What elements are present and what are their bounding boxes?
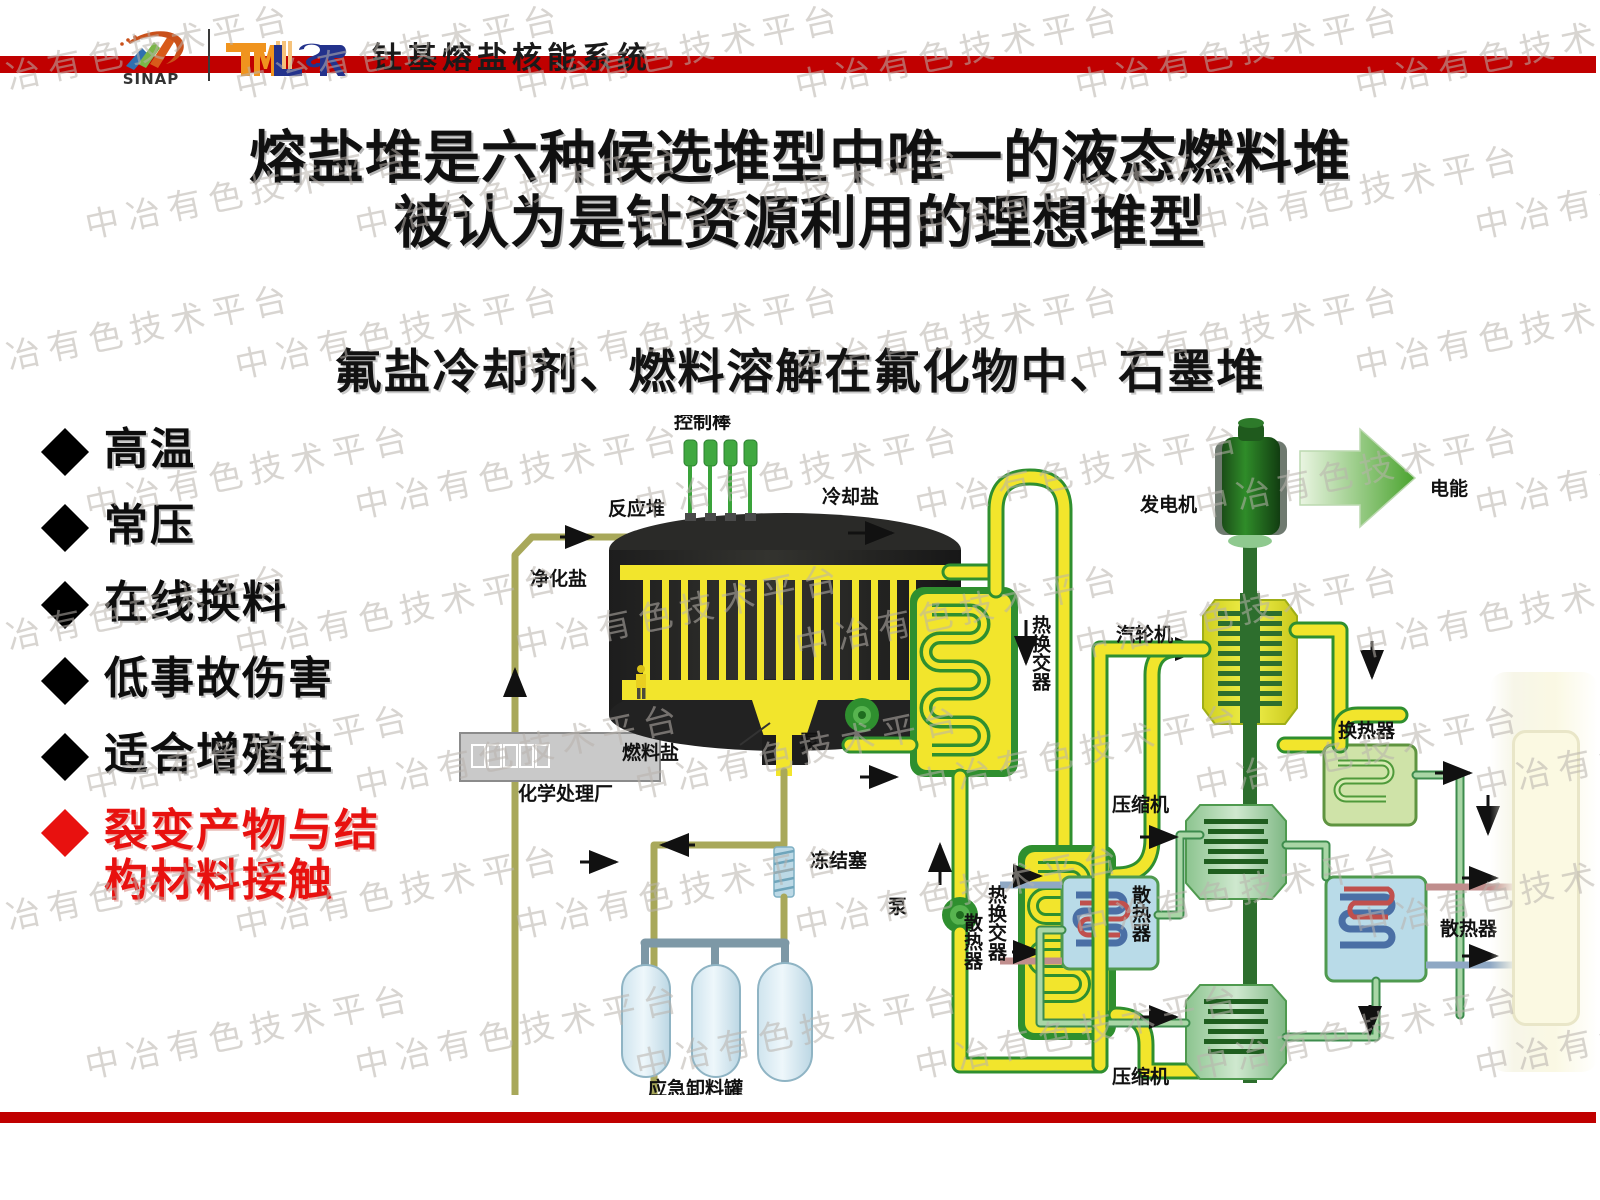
msr-system-diagram: .lbl{font-family:"DejaVu Sans","Liberati… bbox=[440, 415, 1600, 1095]
label-fuel-salt: 燃料盐 bbox=[622, 741, 679, 764]
brand-title: 钍基熔盐核能系统 bbox=[372, 33, 652, 77]
label-control-rod: 控制棒 bbox=[674, 415, 732, 433]
watermark-text: 中冶有色技术平台 bbox=[80, 970, 419, 1088]
list-item: 低事故伤害 bbox=[48, 654, 448, 703]
bullet-label: 适合增殖钍 bbox=[104, 730, 334, 779]
compressor-lower bbox=[1186, 985, 1286, 1079]
header-logo-group: SINAP 钍基熔盐核能系统 bbox=[108, 22, 652, 88]
emergency-dump-tanks bbox=[622, 963, 812, 1081]
watermark-text: 中冶有色技术平台 bbox=[790, 0, 1129, 108]
list-item: 适合增殖钍 bbox=[48, 730, 448, 779]
label-heat-exchanger-1: 热换交器 bbox=[1029, 614, 1052, 692]
diamond-bullet-icon bbox=[41, 733, 89, 781]
watermark-text: 中冶有色技术平台 bbox=[1350, 0, 1600, 108]
list-item-highlight: 裂变产物与结 构材料接触 bbox=[48, 806, 448, 905]
bullet-label: 高温 bbox=[104, 425, 196, 474]
page-subtitle: 氟盐冷却剂、燃料溶解在氟化物中、石墨堆 bbox=[0, 333, 1600, 402]
label-pump-secondary: 泵 bbox=[888, 896, 907, 918]
sinap-logo-icon: SINAP bbox=[108, 24, 194, 86]
control-rods bbox=[684, 440, 757, 521]
bullet-label: 常压 bbox=[104, 501, 196, 550]
label-reactor: 反应堆 bbox=[608, 497, 665, 520]
label-generator: 发电机 bbox=[1139, 493, 1197, 516]
turbine bbox=[1203, 593, 1297, 724]
title-line-2: 被认为是钍资源利用的理想堆型 bbox=[0, 191, 1600, 256]
diamond-bullet-icon bbox=[41, 504, 89, 552]
freeze-plug-icon bbox=[774, 847, 794, 897]
label-coolant-salt: 冷却盐 bbox=[822, 485, 879, 508]
bullet-label: 低事故伤害 bbox=[104, 654, 334, 703]
recuperator bbox=[1324, 745, 1416, 825]
label-freeze-plug: 冻结塞 bbox=[810, 849, 868, 872]
logo-divider bbox=[208, 29, 210, 81]
footer-rule bbox=[0, 1112, 1596, 1123]
title-line-1: 熔盐堆是六种候选堆型中唯一的液态燃料堆 bbox=[249, 125, 1351, 191]
list-item: 常压 bbox=[48, 501, 448, 550]
label-electricity: 电能 bbox=[1430, 477, 1468, 500]
label-pump-primary: 泵 bbox=[800, 731, 819, 753]
label-turbine: 汽轮机 bbox=[1116, 623, 1173, 646]
label-recuperator: 换热器 bbox=[1338, 719, 1396, 742]
svg-text:SINAP: SINAP bbox=[123, 70, 180, 86]
bullet-label-accent: 裂变产物与结 构材料接触 bbox=[104, 806, 380, 905]
diamond-bullet-icon bbox=[41, 580, 89, 628]
diamond-bullet-icon-accent bbox=[41, 809, 89, 857]
slide-root: SINAP 钍基熔盐核能系统 熔盐堆是六种候选堆型中唯一的液态燃料堆 被认为是钍… bbox=[0, 0, 1600, 1200]
feature-bullet-list: 高温 常压 在线换料 低事故伤害 适合增殖钍 裂变产物与结 构材料接触 bbox=[48, 425, 448, 932]
electricity-arrow-icon bbox=[1300, 429, 1415, 527]
heat-exchanger-1 bbox=[910, 587, 1018, 777]
diamond-bullet-icon bbox=[41, 428, 89, 476]
generator bbox=[1215, 418, 1287, 535]
label-purified-salt: 净化盐 bbox=[530, 567, 587, 590]
watermark-text: 中冶有色技术平台 bbox=[1070, 0, 1409, 108]
page-title: 熔盐堆是六种候选堆型中唯一的液态燃料堆 被认为是钍资源利用的理想堆型 bbox=[0, 126, 1600, 256]
faded-edge-graphic bbox=[1490, 672, 1598, 1072]
label-radiator-left: 散热器 bbox=[961, 912, 984, 971]
bullet-label: 在线换料 bbox=[104, 578, 288, 627]
label-radiator-main: 散热器 bbox=[1129, 884, 1152, 943]
list-item: 在线换料 bbox=[48, 578, 448, 627]
label-chemical-plant: 化学处理厂 bbox=[518, 782, 613, 805]
label-heat-exchanger-2: 热换交器 bbox=[985, 884, 1008, 962]
list-item: 高温 bbox=[48, 425, 448, 474]
compressor-upper bbox=[1186, 805, 1286, 899]
tmsr-logo-icon bbox=[224, 29, 344, 81]
label-compressor-lower: 压缩机 bbox=[1112, 1065, 1169, 1088]
label-dump-tanks: 应急卸料罐 bbox=[648, 1077, 743, 1095]
primary-pump-icon bbox=[845, 698, 879, 732]
label-compressor-upper: 压缩机 bbox=[1112, 793, 1169, 816]
diamond-bullet-icon bbox=[41, 657, 89, 705]
